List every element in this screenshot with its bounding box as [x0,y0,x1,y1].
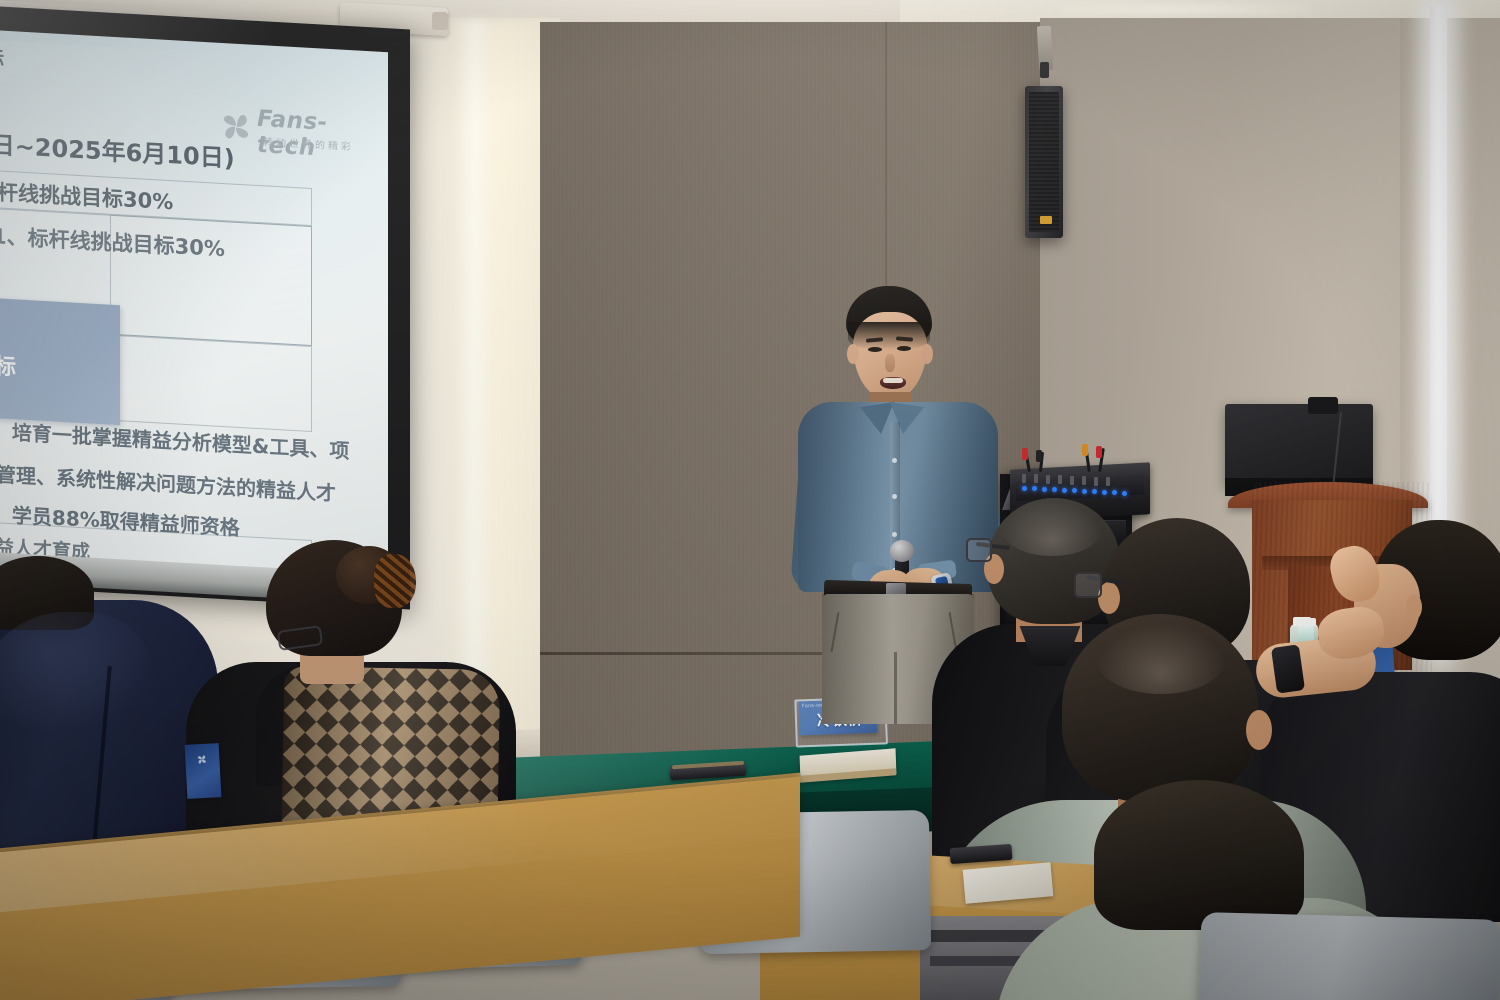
hood-fold [0,612,156,732]
table-card-fan-icon [196,754,208,766]
presenter-nose [885,354,895,372]
foreground-head [1094,780,1304,930]
audience-hair-highlight [1002,502,1102,556]
audience-ear [1406,594,1422,620]
audience-ear [1246,710,1272,750]
audience-hair-highlight [1096,624,1226,694]
speaker-logo-badge [1040,216,1052,224]
eyeglasses-lens-icon [1074,572,1102,598]
presenter-eye-left [868,347,882,352]
slide-title: 标 [0,42,4,72]
presenter-ear-left [847,344,859,364]
trouser-seam [894,652,897,724]
table-card-left [185,743,222,799]
presenter-teeth [883,378,903,383]
presenter-eye-right [897,346,911,351]
microphone-head-icon [890,540,914,562]
projection-screen-surface: 标 0日~2025年6月10日) 标杆线挑战目标30% 1、标杆线挑战目标30%… [0,30,388,576]
slide-kpi-label: 指标 [0,347,16,381]
conference-room-photo: 标 0日~2025年6月10日) 标杆线挑战目标30% 1、标杆线挑战目标30%… [0,0,1500,1000]
fans-tech-logo: Fans-tech 转动世界的精彩 [215,99,365,163]
presenter-ear-right [921,344,933,364]
presenter-hairline [848,322,930,350]
fan-petal-icon [219,109,253,145]
chair [1199,912,1500,1000]
eyeglasses-lens-icon [966,538,992,562]
hair-clip [374,554,416,608]
dell-monitor: DELL [1225,404,1373,486]
webcam-icon [1308,397,1338,414]
speaker-grille [1029,92,1059,232]
projector-screen-roller-cap [432,12,448,30]
speaker-bracket-joint [1040,62,1049,78]
slide-content-box-c [110,335,312,432]
slide-kpi-panel [0,296,120,425]
ceiling-light-glow [1060,2,1310,16]
